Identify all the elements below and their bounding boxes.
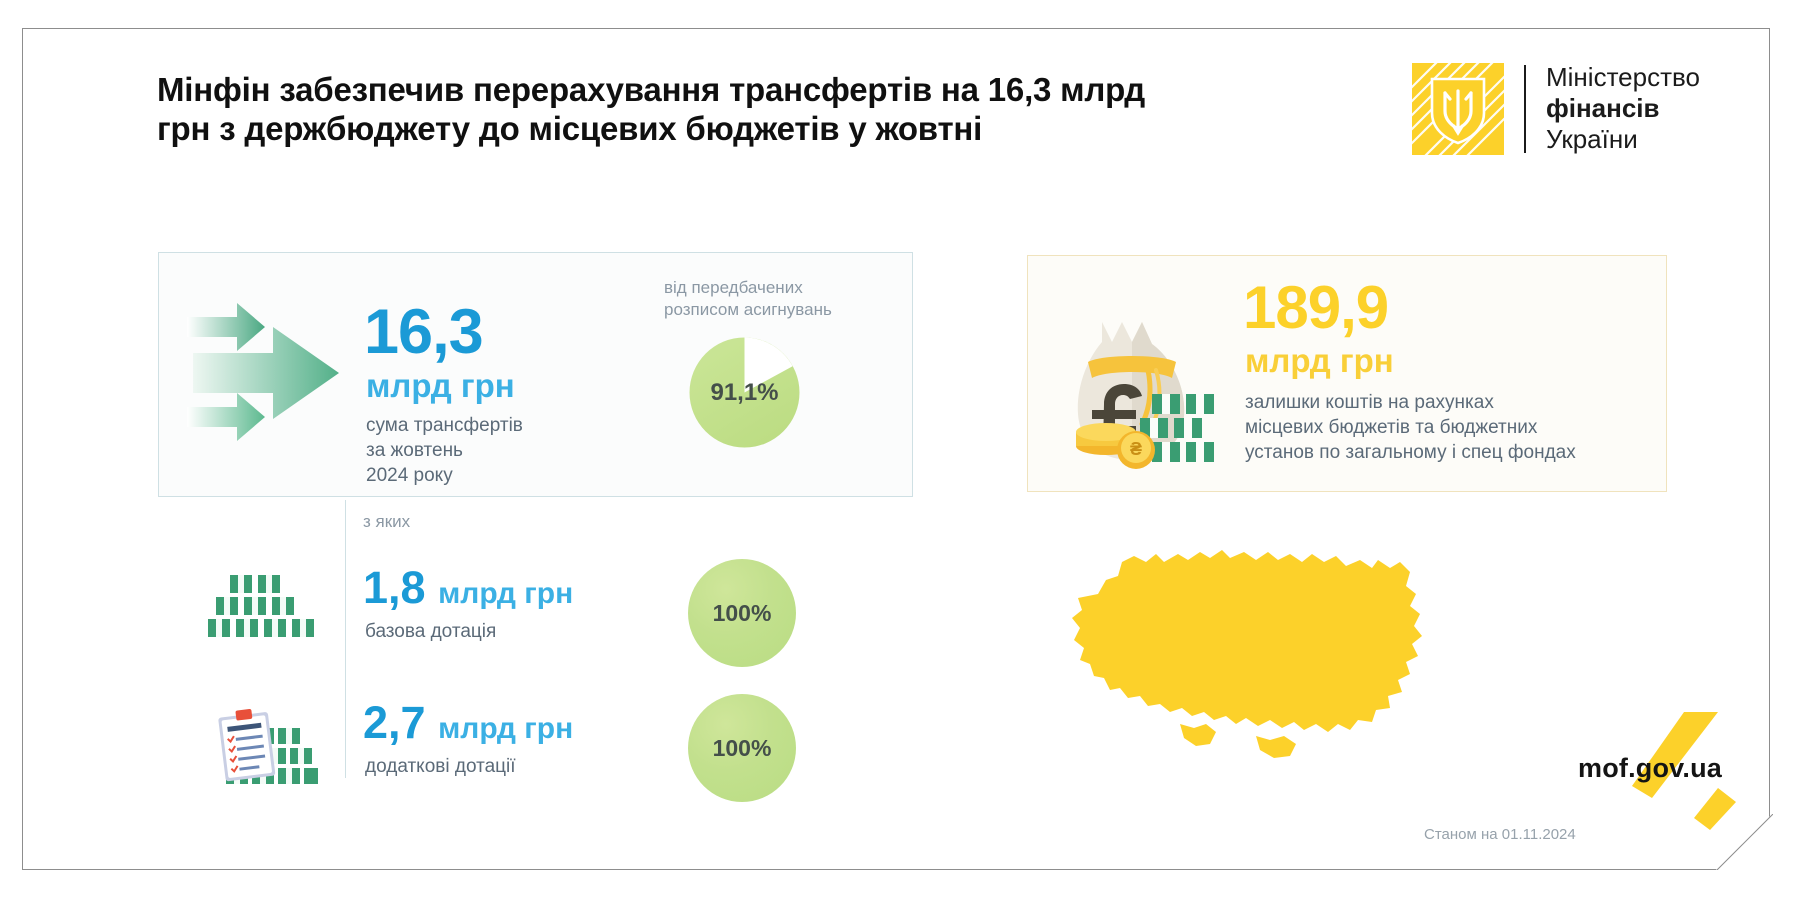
subsidy-row-additional: 2,7 млрд грн додаткові дотації 100% [158, 680, 918, 810]
tryzub-emblem-icon [1412, 63, 1504, 155]
clipboard-money-icon [208, 706, 318, 792]
balances-card: ₴ 189,9 млрд грн залишки коштів на рахун… [1027, 255, 1667, 492]
base-subsidy-value: 1,8 млрд грн [363, 565, 573, 616]
ministry-logo: Міністерство фінансів України [1412, 62, 1700, 155]
page-title: Мінфін забезпечив перерахування трансфер… [157, 70, 1157, 148]
infographic-canvas: Мінфін забезпечив перерахування трансфер… [0, 0, 1795, 898]
three-arrows-icon [181, 295, 351, 455]
transfers-summary-card: 16,3 млрд грн сума трансфертів за жовтен… [158, 252, 913, 497]
additional-subsidy-description: додаткові дотації [365, 756, 516, 778]
logo-divider [1524, 65, 1526, 153]
additional-subsidy-unit: млрд грн [438, 712, 573, 745]
svg-text:₴: ₴ [1130, 439, 1142, 459]
balances-value: 189,9 [1243, 278, 1388, 338]
subsidy-row-base: 1,8 млрд грн базова дотація 100% [158, 545, 918, 675]
date-note: Станом на 01.11.2024 [1424, 826, 1576, 843]
logo-line-1: Міністерство [1546, 62, 1700, 93]
money-stack-icon [208, 571, 318, 657]
base-subsidy-percent: 100% [688, 559, 796, 667]
transfers-value: 16,3 [364, 301, 483, 364]
money-bag-hryvnia-icon: ₴ [1040, 286, 1240, 476]
logo-text: Міністерство фінансів України [1546, 62, 1700, 155]
execution-pie-chart: 91,1% [687, 335, 802, 450]
transfers-description: сума трансфертів за жовтень 2024 року [366, 413, 523, 488]
pie-chart-label: від передбачених розписом асигнувань [664, 277, 832, 321]
balances-description: залишки коштів на рахунках місцевих бюдж… [1245, 390, 1576, 465]
additional-subsidy-value: 2,7 млрд грн [363, 700, 573, 751]
base-subsidy-description: базова дотація [365, 621, 496, 643]
ukraine-map-icon [1060, 510, 1490, 770]
balances-unit: млрд грн [1245, 344, 1394, 377]
logo-line-3: України [1546, 124, 1700, 155]
site-url[interactable]: mof.gov.ua [1578, 753, 1722, 784]
sub-section-label: з яких [363, 512, 410, 532]
base-subsidy-number: 1,8 [363, 562, 426, 613]
base-subsidy-unit: млрд грн [438, 577, 573, 610]
transfers-unit: млрд грн [366, 369, 515, 402]
additional-subsidy-number: 2,7 [363, 697, 426, 748]
pie-chart-value: 91,1% [687, 335, 802, 450]
logo-line-2: фінансів [1546, 93, 1700, 124]
additional-subsidy-percent: 100% [688, 694, 796, 802]
